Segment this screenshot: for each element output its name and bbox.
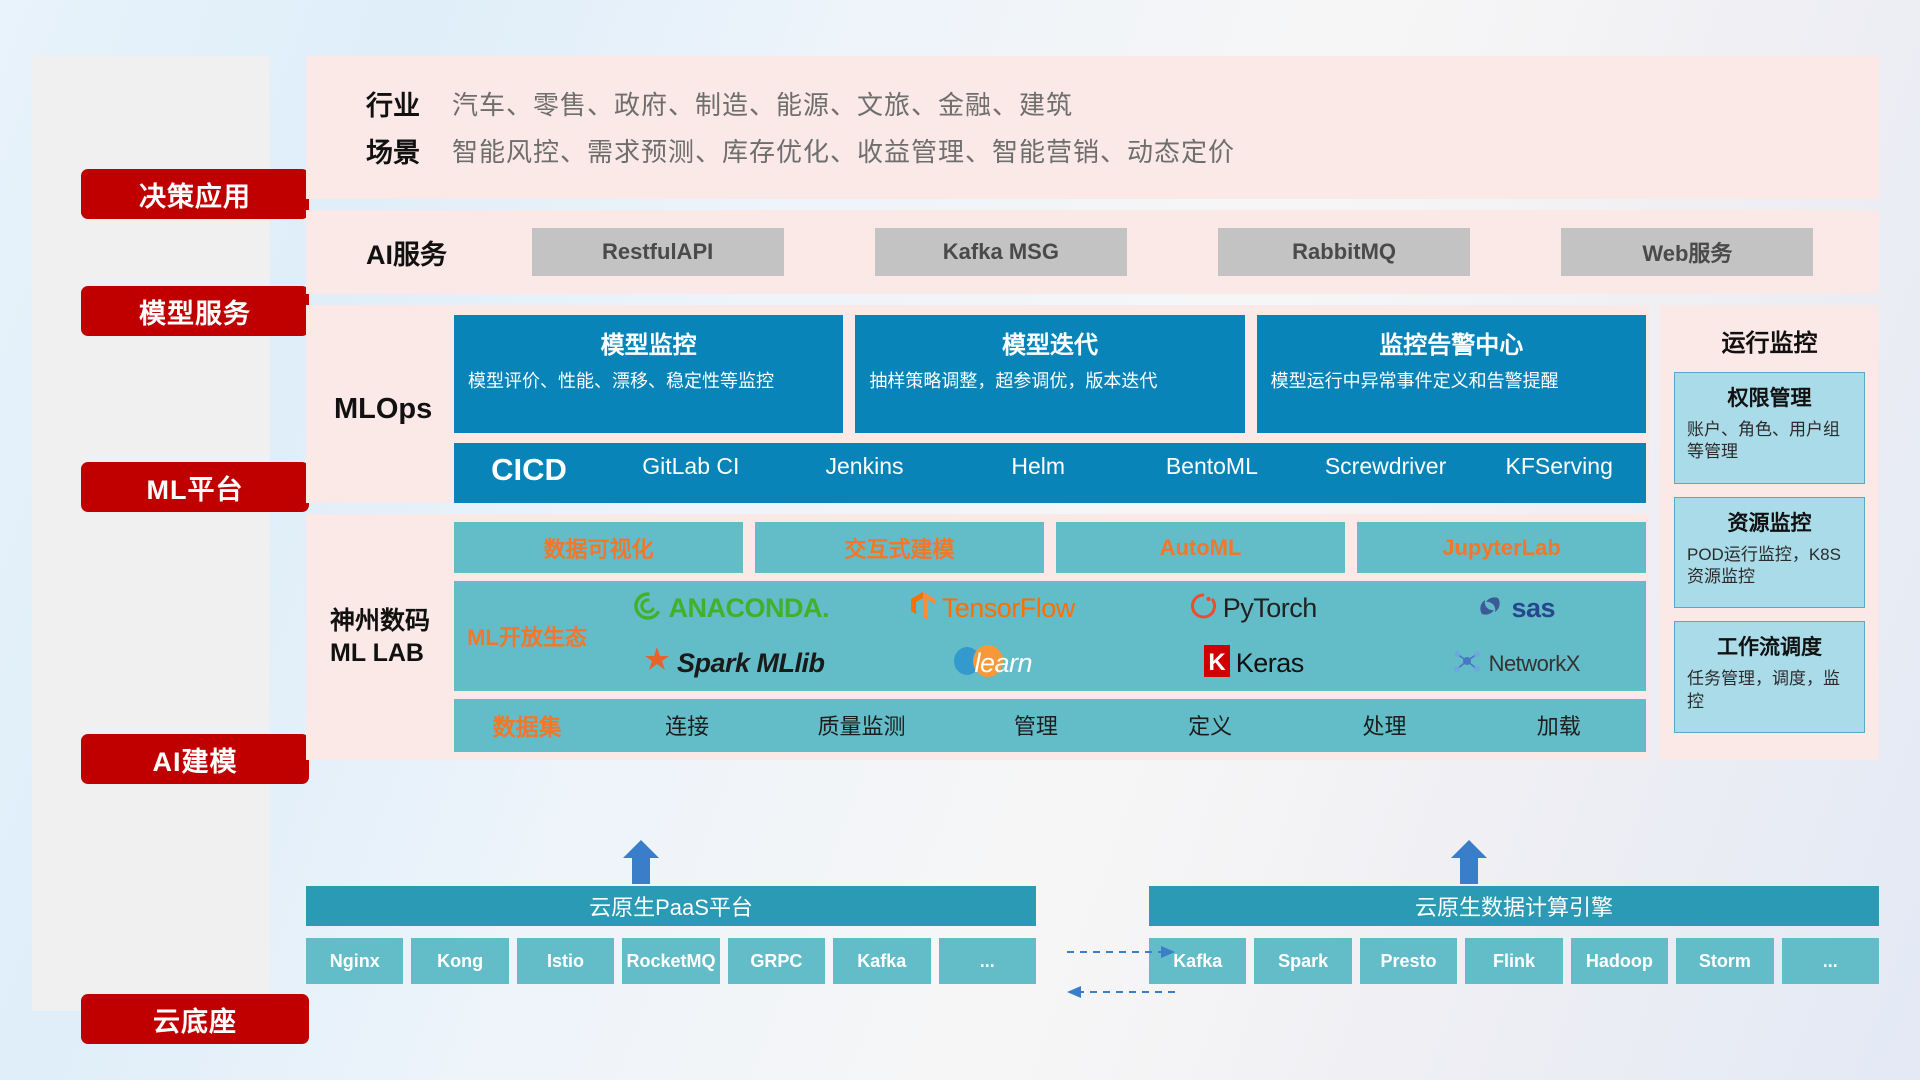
monitoring-title: 运行监控 (1674, 323, 1865, 358)
arrow-up-icon (1449, 840, 1489, 882)
ml-lab-key-line2: ML LAB (330, 637, 424, 669)
cloud-chip-istio[interactable]: Istio (517, 938, 614, 984)
dataset-item-define[interactable]: 定义 (1123, 709, 1297, 741)
arrow-up-icon (621, 840, 661, 882)
anaconda-icon (633, 591, 663, 626)
layer-label: 云底座 (153, 1000, 237, 1039)
layer-chip-ai-modeling[interactable]: AI建模 (81, 734, 309, 784)
scenario-row: 场景 智能风控、需求预测、库存优化、收益管理、智能营销、动态定价 (334, 127, 1879, 174)
keras-icon: K (1204, 645, 1230, 682)
ai-service-key: AI服务 (366, 233, 486, 272)
cloud-link-arrows (1065, 940, 1177, 1010)
logo-pytorch[interactable]: PyTorch (1191, 591, 1317, 626)
ai-service-items: RestfulAPI Kafka MSG RabbitMQ Web服务 (486, 228, 1879, 276)
ai-service-band: AI服务 RestfulAPI Kafka MSG RabbitMQ Web服务 (306, 210, 1879, 294)
layer-label: ML平台 (147, 468, 244, 507)
ai-service-rabbitmq[interactable]: RabbitMQ (1218, 228, 1470, 276)
cloud-chip-more[interactable]: ... (1782, 938, 1879, 984)
cloud-chip-storm[interactable]: Storm (1676, 938, 1773, 984)
card-desc: 抽样策略调整，超参调优，版本迭代 (869, 369, 1230, 393)
cicd-item-gitlab-ci[interactable]: GitLab CI (604, 452, 778, 480)
logo-anaconda[interactable]: ANACONDA. (633, 591, 830, 626)
layer-rail: 决策应用 模型服务 ML平台 AI建模 云底座 (32, 56, 270, 1011)
band-gap (306, 503, 1649, 514)
card-title: 模型迭代 (869, 325, 1230, 360)
mlops-cards: 模型监控 模型评价、性能、漂移、稳定性等监控 模型迭代 抽样策略调整，超参调优，… (454, 315, 1646, 433)
cloud-chip-flink[interactable]: Flink (1465, 938, 1562, 984)
logo-label: Keras (1236, 648, 1304, 679)
dataset-item-load[interactable]: 加载 (1472, 709, 1646, 741)
sas-icon (1475, 591, 1505, 626)
logo-sas[interactable]: sas (1475, 591, 1555, 626)
industry-row: 行业 汽车、零售、政府、制造、能源、文旅、金融、建筑 (334, 80, 1879, 127)
layer-chip-cloud-base[interactable]: 云底座 (81, 994, 309, 1044)
band-gap (306, 294, 1879, 305)
cloud-chip-kafka[interactable]: Kafka (833, 938, 930, 984)
mlops-card-alert-center[interactable]: 监控告警中心 模型运行中异常事件定义和告警提醒 (1257, 315, 1646, 433)
ai-service-cell: RestfulAPI (486, 228, 829, 276)
dataset-item-quality[interactable]: 质量监测 (774, 709, 948, 741)
tool-jupyterlab[interactable]: JupyterLab (1357, 522, 1646, 573)
cloud-compute-column: 云原生数据计算引擎 Kafka Spark Presto Flink Hadoo… (1149, 886, 1879, 984)
dataset-items: 连接 质量监测 管理 定义 处理 加载 (600, 709, 1646, 741)
cicd-item-jenkins[interactable]: Jenkins (778, 452, 952, 480)
networkx-icon (1451, 646, 1483, 681)
diagram-canvas: 决策应用 模型服务 ML平台 AI建模 云底座 行业 汽车、零售、政府、制造、能… (0, 0, 1920, 1080)
ml-lab-band: 神州数码 ML LAB 数据可视化 交互式建模 AutoML JupyterLa… (306, 514, 1649, 760)
ai-service-cell: Web服务 (1516, 228, 1859, 276)
layer-label: 模型服务 (139, 292, 251, 331)
logo-spark-mllib[interactable]: Spark MLlib (637, 646, 825, 681)
logo-label: learn (974, 648, 1032, 679)
industry-value: 汽车、零售、政府、制造、能源、文旅、金融、建筑 (452, 85, 1073, 122)
cloud-chip-nginx[interactable]: Nginx (306, 938, 403, 984)
runtime-monitoring-panel: 运行监控 权限管理 账户、角色、用户组等管理 资源监控 POD运行监控，K8S资… (1660, 305, 1879, 760)
card-desc: POD运行监控，K8S资源监控 (1687, 544, 1852, 589)
ml-ecosystem-logos: ANACONDA. TensorFlow (600, 581, 1646, 691)
cloud-chip-kong[interactable]: Kong (411, 938, 508, 984)
band-gap (306, 199, 1879, 210)
logo-keras[interactable]: K Keras (1204, 645, 1304, 682)
tool-interactive-modeling[interactable]: 交互式建模 (755, 522, 1044, 573)
dataset-row: 数据集 连接 质量监测 管理 定义 处理 加载 (454, 699, 1646, 752)
dataset-item-connect[interactable]: 连接 (600, 709, 774, 741)
cicd-bar: CICD GitLab CI Jenkins Helm BentoML Scre… (454, 443, 1646, 503)
tool-data-visualization[interactable]: 数据可视化 (454, 522, 743, 573)
architecture-main: 行业 汽车、零售、政府、制造、能源、文旅、金融、建筑 场景 智能风控、需求预测、… (306, 56, 1879, 760)
logo-scikit-learn[interactable]: learn (952, 644, 1032, 683)
cicd-item-screwdriver[interactable]: Screwdriver (1299, 452, 1473, 480)
ml-ecosystem-label: ML开放生态 (454, 620, 600, 652)
layer-label: 决策应用 (139, 175, 251, 214)
cicd-item-bentoml[interactable]: BentoML (1125, 452, 1299, 480)
logo-label: ANACONDA. (669, 593, 830, 624)
monitor-card-resource[interactable]: 资源监控 POD运行监控，K8S资源监控 (1674, 497, 1865, 609)
tool-automl[interactable]: AutoML (1056, 522, 1345, 573)
cicd-item-kfserving[interactable]: KFServing (1472, 452, 1646, 480)
monitor-card-permission[interactable]: 权限管理 账户、角色、用户组等管理 (1674, 372, 1865, 484)
logo-label: NetworkX (1489, 651, 1580, 677)
cloud-compute-chips: Kafka Spark Presto Flink Hadoop Storm ..… (1149, 938, 1879, 984)
card-desc: 模型运行中异常事件定义和告警提醒 (1271, 369, 1632, 393)
industry-key: 行业 (334, 84, 452, 123)
ml-lab-key-line1: 神州数码 (330, 605, 430, 637)
ai-service-kafka-msg[interactable]: Kafka MSG (875, 228, 1127, 276)
card-desc: 账户、角色、用户组等管理 (1687, 419, 1852, 464)
layer-chip-decision-apps[interactable]: 决策应用 (81, 169, 309, 219)
mlops-key: MLOps (306, 315, 454, 503)
decision-apps-band: 行业 汽车、零售、政府、制造、能源、文旅、金融、建筑 场景 智能风控、需求预测、… (306, 56, 1879, 199)
logo-networkx[interactable]: NetworkX (1451, 646, 1580, 681)
cloud-chip-more[interactable]: ... (939, 938, 1036, 984)
cicd-item-helm[interactable]: Helm (951, 452, 1125, 480)
dataset-item-process[interactable]: 处理 (1297, 709, 1471, 741)
platform-split: MLOps 模型监控 模型评价、性能、漂移、稳定性等监控 模型迭代 抽样策略调整… (306, 305, 1879, 760)
logo-label: Spark MLlib (677, 648, 825, 679)
tensorflow-icon (910, 591, 936, 626)
ai-service-restfulapi[interactable]: RestfulAPI (532, 228, 784, 276)
cloud-paas-chips: Nginx Kong Istio RocketMQ GRPC Kafka ... (306, 938, 1036, 984)
logo-label: sas (1511, 593, 1555, 624)
svg-text:K: K (1208, 649, 1226, 676)
card-title: 模型监控 (468, 325, 829, 360)
card-title: 资源监控 (1687, 507, 1852, 537)
cloud-chip-grpc[interactable]: GRPC (728, 938, 825, 984)
ml-ecosystem-row: ML开放生态 ANACONDA. (454, 581, 1646, 691)
logo-label: PyTorch (1223, 593, 1317, 624)
ml-lab-tools: 数据可视化 交互式建模 AutoML JupyterLab (454, 522, 1646, 573)
logo-tensorflow[interactable]: TensorFlow (910, 591, 1075, 626)
card-title: 权限管理 (1687, 382, 1852, 412)
ml-lab-key: 神州数码 ML LAB (306, 522, 454, 752)
mlops-content: 模型监控 模型评价、性能、漂移、稳定性等监控 模型迭代 抽样策略调整，超参调优，… (454, 315, 1649, 503)
mlops-card-model-iteration[interactable]: 模型迭代 抽样策略调整，超参调优，版本迭代 (855, 315, 1244, 433)
logo-label: TensorFlow (942, 593, 1075, 624)
cloud-paas-column: 云原生PaaS平台 Nginx Kong Istio RocketMQ GRPC… (306, 886, 1036, 984)
cloud-chip-hadoop[interactable]: Hadoop (1571, 938, 1668, 984)
platform-left-column: MLOps 模型监控 模型评价、性能、漂移、稳定性等监控 模型迭代 抽样策略调整… (306, 305, 1649, 760)
ai-service-web[interactable]: Web服务 (1561, 228, 1813, 276)
mlops-band: MLOps 模型监控 模型评价、性能、漂移、稳定性等监控 模型迭代 抽样策略调整… (306, 305, 1649, 503)
layer-chip-ml-platform[interactable]: ML平台 (81, 462, 309, 512)
scenario-value: 智能风控、需求预测、库存优化、收益管理、智能营销、动态定价 (452, 132, 1235, 169)
card-desc: 任务管理，调度，监控 (1687, 668, 1852, 713)
layer-chip-model-service[interactable]: 模型服务 (81, 286, 309, 336)
layer-label: AI建模 (153, 740, 238, 779)
cloud-chip-presto[interactable]: Presto (1360, 938, 1457, 984)
spark-icon (637, 646, 671, 681)
card-title: 工作流调度 (1687, 631, 1852, 661)
cloud-chip-rocketmq[interactable]: RocketMQ (622, 938, 719, 984)
dataset-item-manage[interactable]: 管理 (949, 709, 1123, 741)
scenario-key: 场景 (334, 131, 452, 170)
ml-lab-content: 数据可视化 交互式建模 AutoML JupyterLab ML开放生态 (454, 522, 1649, 752)
cicd-items: GitLab CI Jenkins Helm BentoML Screwdriv… (604, 452, 1646, 480)
cicd-label: CICD (454, 452, 604, 488)
pytorch-icon (1191, 591, 1217, 626)
cloud-compute-title: 云原生数据计算引擎 (1149, 886, 1879, 926)
mlops-card-model-monitoring[interactable]: 模型监控 模型评价、性能、漂移、稳定性等监控 (454, 315, 843, 433)
monitor-card-workflow[interactable]: 工作流调度 任务管理，调度，监控 (1674, 621, 1865, 733)
card-title: 监控告警中心 (1271, 325, 1632, 360)
ai-service-cell: Kafka MSG (829, 228, 1172, 276)
cloud-chip-spark[interactable]: Spark (1254, 938, 1351, 984)
ai-service-cell: RabbitMQ (1173, 228, 1516, 276)
dataset-label: 数据集 (454, 708, 600, 742)
cloud-paas-title: 云原生PaaS平台 (306, 886, 1036, 926)
card-desc: 模型评价、性能、漂移、稳定性等监控 (468, 369, 829, 393)
